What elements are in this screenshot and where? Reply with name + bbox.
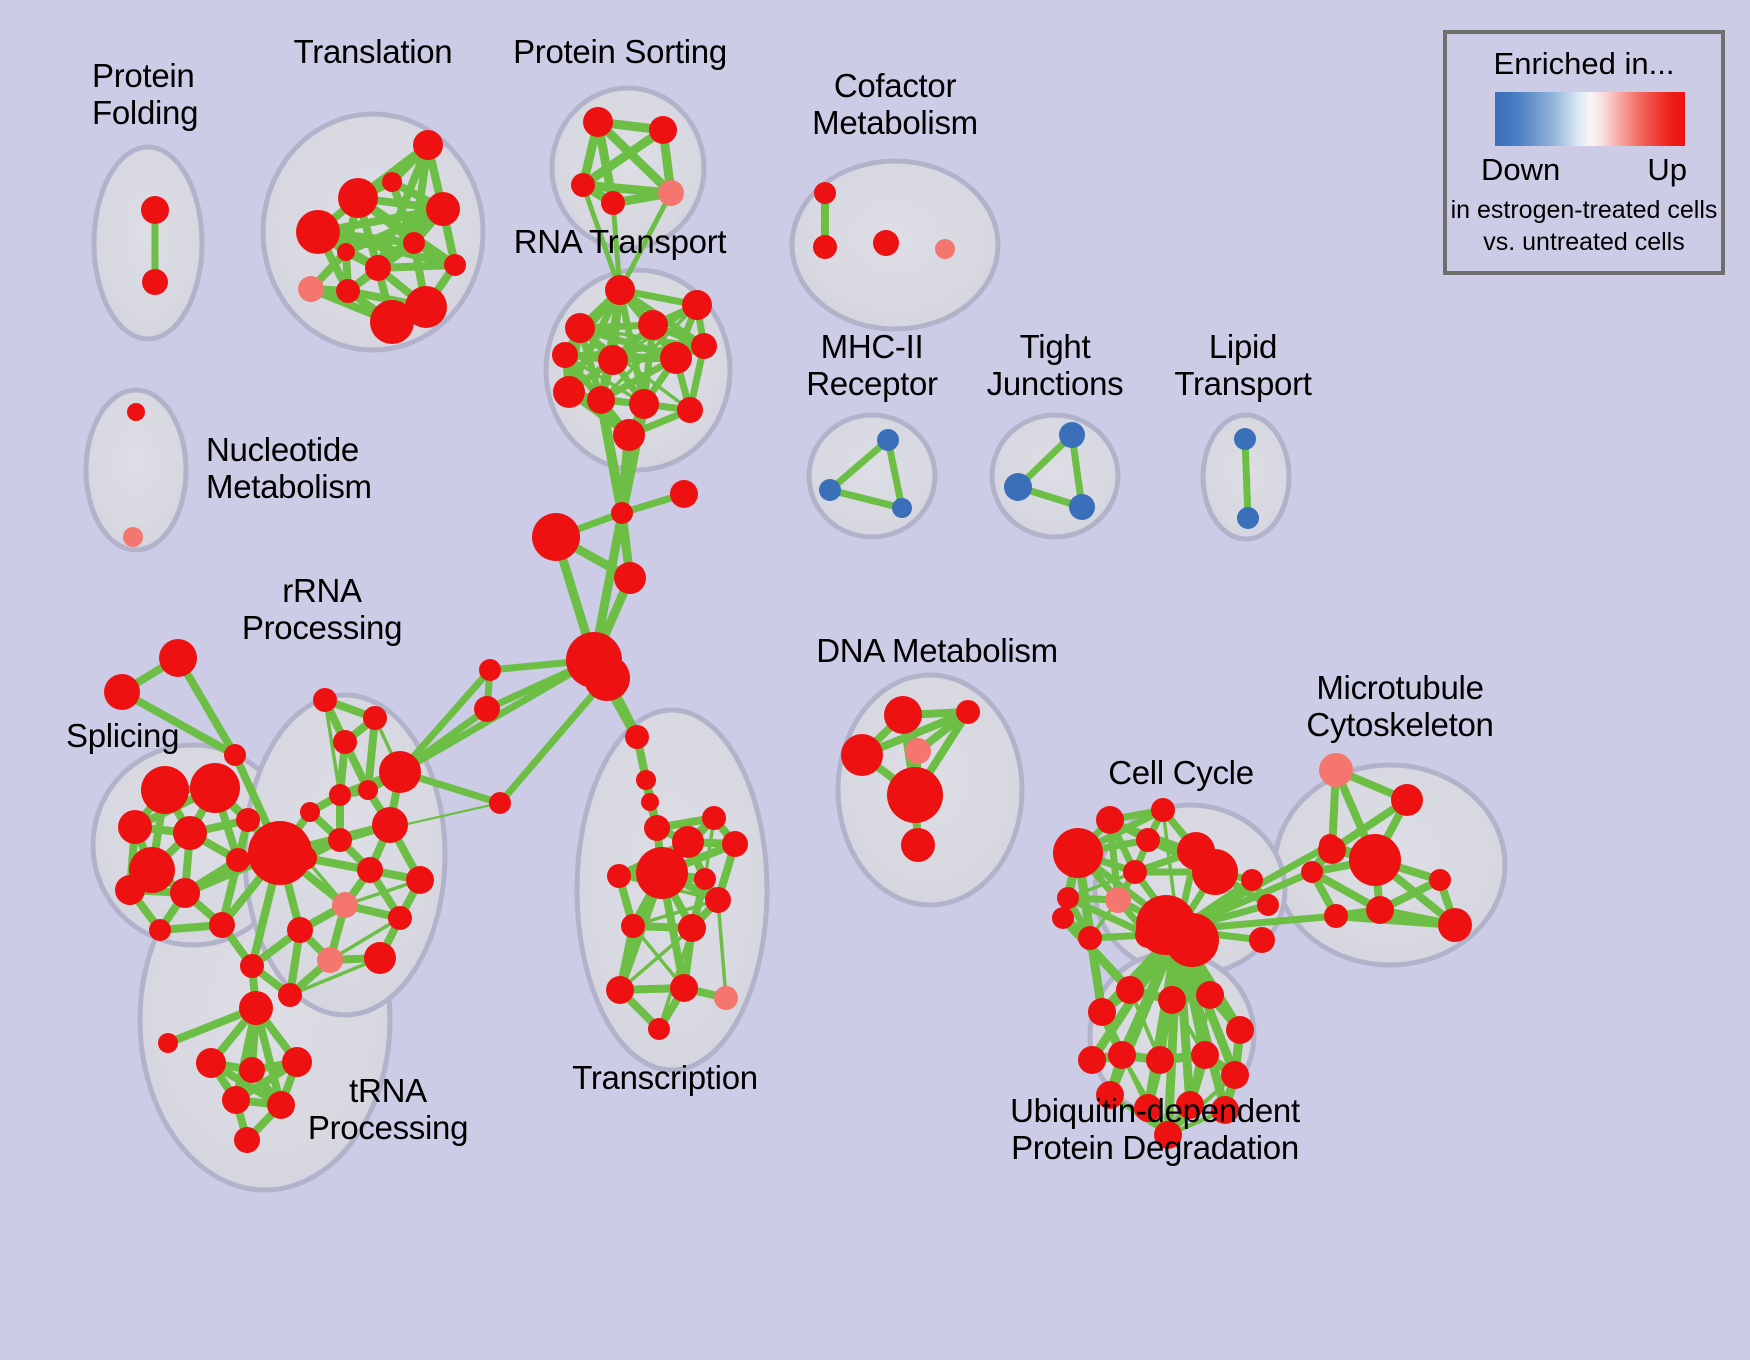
node	[714, 986, 738, 1010]
node	[722, 831, 748, 857]
node	[170, 878, 200, 908]
node	[239, 1057, 265, 1083]
node	[226, 848, 250, 872]
node	[638, 310, 668, 340]
node	[1221, 1061, 1249, 1089]
node	[234, 1127, 260, 1153]
node	[1237, 507, 1259, 529]
node	[694, 868, 716, 890]
cluster-label-ubiquitin-protein-degradation: Ubiquitin-dependent Protein Degradation	[1010, 1093, 1300, 1167]
node	[629, 389, 659, 419]
node	[565, 313, 595, 343]
node	[1249, 927, 1275, 953]
node	[583, 107, 613, 137]
legend-label-up: Up	[1647, 152, 1687, 188]
node	[388, 906, 412, 930]
node	[426, 192, 460, 226]
node	[196, 1048, 226, 1078]
node	[296, 210, 340, 254]
legend-label-down: Down	[1481, 152, 1560, 188]
node	[644, 815, 670, 841]
node	[641, 793, 659, 811]
node	[614, 562, 646, 594]
node	[587, 386, 615, 414]
node	[123, 527, 143, 547]
node	[670, 480, 698, 508]
cluster-label-cell-cycle: Cell Cycle	[1108, 755, 1254, 792]
node	[224, 744, 246, 766]
node	[1108, 1041, 1136, 1069]
node	[670, 974, 698, 1002]
cluster-hull-protein-folding	[94, 147, 202, 339]
node	[141, 196, 169, 224]
node	[1078, 926, 1102, 950]
legend-title: Enriched in...	[1447, 46, 1721, 82]
node	[1096, 806, 1124, 834]
node	[819, 479, 841, 501]
node	[605, 275, 635, 305]
node	[935, 239, 955, 259]
node	[127, 403, 145, 421]
node	[1366, 896, 1394, 924]
node	[336, 279, 360, 303]
node	[1226, 1016, 1254, 1044]
node	[141, 766, 189, 814]
node	[705, 887, 731, 913]
cluster-label-cofactor-metabolism: Cofactor Metabolism	[812, 68, 978, 142]
node	[1088, 998, 1116, 1026]
node	[613, 419, 645, 451]
node	[813, 235, 837, 259]
legend-panel: Enriched in... Down Up in estrogen-treat…	[1443, 30, 1725, 275]
node	[1349, 834, 1401, 886]
node	[1234, 428, 1256, 450]
node	[159, 639, 197, 677]
node	[956, 700, 980, 724]
node	[636, 770, 656, 790]
node	[553, 376, 585, 408]
node	[365, 255, 391, 281]
node	[1151, 798, 1175, 822]
node	[474, 696, 500, 722]
node	[357, 857, 383, 883]
node	[287, 917, 313, 943]
node	[532, 513, 580, 561]
node	[1301, 861, 1323, 883]
node	[1192, 849, 1238, 895]
node	[403, 232, 425, 254]
node	[300, 802, 320, 822]
node	[379, 751, 421, 793]
node	[607, 864, 631, 888]
node	[382, 172, 402, 192]
node	[328, 828, 352, 852]
node	[1196, 981, 1224, 1009]
cluster-label-splicing: Splicing	[66, 718, 179, 755]
node	[158, 1033, 178, 1053]
node	[552, 342, 578, 368]
node	[338, 178, 378, 218]
node	[372, 807, 408, 843]
node	[118, 810, 152, 844]
cluster-label-transcription: Transcription	[572, 1060, 758, 1097]
node	[1116, 976, 1144, 1004]
node	[1158, 986, 1186, 1014]
node	[658, 180, 684, 206]
node	[1319, 753, 1353, 787]
node	[149, 919, 171, 941]
node	[901, 828, 935, 862]
node	[358, 780, 378, 800]
node	[363, 706, 387, 730]
cluster-label-protein-folding: Protein Folding	[92, 58, 198, 132]
node	[236, 808, 260, 832]
node	[598, 345, 628, 375]
node	[648, 1018, 670, 1040]
node	[222, 1086, 250, 1114]
node	[1241, 869, 1263, 891]
node	[1057, 887, 1079, 909]
node	[248, 821, 312, 885]
node	[1146, 1046, 1174, 1074]
node	[317, 947, 343, 973]
node	[1165, 913, 1219, 967]
node	[877, 429, 899, 451]
node	[1429, 869, 1451, 891]
node	[841, 734, 883, 776]
node	[1438, 908, 1472, 942]
node	[814, 182, 836, 204]
legend-color-gradient-bar	[1495, 92, 1685, 146]
node	[601, 191, 625, 215]
legend-subtitle-line-1: in estrogen-treated cells	[1447, 196, 1721, 225]
node	[1052, 907, 1074, 929]
node	[611, 502, 633, 524]
node	[1136, 828, 1160, 852]
cluster-hull-mhc-ii-receptor	[809, 415, 935, 537]
node	[1324, 904, 1348, 928]
cluster-label-mhc-ii-receptor: MHC-II Receptor	[806, 329, 938, 403]
node	[298, 276, 324, 302]
node	[1257, 894, 1279, 916]
node	[278, 983, 302, 1007]
cluster-label-trna-processing: tRNA Processing	[308, 1073, 468, 1147]
cluster-label-rrna-processing: rRNA Processing	[242, 573, 402, 647]
node	[691, 333, 717, 359]
node	[313, 688, 337, 712]
node	[337, 243, 355, 261]
node	[1319, 834, 1341, 856]
cluster-label-translation: Translation	[294, 34, 453, 71]
cluster-label-microtubule-cytoskeleton: Microtubule Cytoskeleton	[1306, 670, 1493, 744]
node	[887, 767, 943, 823]
node	[1004, 473, 1032, 501]
node	[406, 866, 434, 894]
node	[190, 763, 240, 813]
cluster-label-tight-junctions: Tight Junctions	[987, 329, 1124, 403]
node	[104, 674, 140, 710]
node	[209, 912, 235, 938]
node	[173, 816, 207, 850]
node	[1123, 860, 1147, 884]
cluster-label-lipid-transport: Lipid Transport	[1174, 329, 1311, 403]
node	[479, 659, 501, 681]
enrichment-map-figure: Protein Folding Translation Protein Sort…	[0, 0, 1750, 1360]
node	[636, 847, 688, 899]
node	[489, 792, 511, 814]
node	[1105, 887, 1131, 913]
node	[333, 730, 357, 754]
node	[571, 173, 595, 197]
node	[884, 696, 922, 734]
node	[584, 655, 630, 701]
cluster-label-rna-transport: RNA Transport	[514, 224, 727, 261]
node	[1191, 1041, 1219, 1069]
node	[370, 300, 414, 344]
node	[677, 397, 703, 423]
node	[364, 942, 396, 974]
node	[873, 230, 899, 256]
node	[678, 914, 706, 942]
node	[649, 116, 677, 144]
node	[142, 269, 168, 295]
cluster-label-dna-metabolism: DNA Metabolism	[816, 633, 1058, 670]
node	[1391, 784, 1423, 816]
node	[1069, 494, 1095, 520]
cluster-label-nucleotide-metabolism: Nucleotide Metabolism	[206, 432, 372, 506]
cluster-label-protein-sorting: Protein Sorting	[513, 34, 727, 71]
node	[413, 130, 443, 160]
node	[239, 991, 273, 1025]
node	[606, 976, 634, 1004]
node	[1078, 1046, 1106, 1074]
node	[240, 954, 264, 978]
node	[1053, 828, 1103, 878]
node	[702, 806, 726, 830]
node	[329, 784, 351, 806]
node	[660, 342, 692, 374]
node	[332, 892, 358, 918]
node	[621, 914, 645, 938]
node	[905, 738, 931, 764]
node	[267, 1091, 295, 1119]
node	[682, 290, 712, 320]
legend-subtitle-line-2: vs. untreated cells	[1447, 228, 1721, 257]
node	[115, 875, 145, 905]
node	[1059, 422, 1085, 448]
node	[892, 498, 912, 518]
node	[625, 725, 649, 749]
node	[444, 254, 466, 276]
